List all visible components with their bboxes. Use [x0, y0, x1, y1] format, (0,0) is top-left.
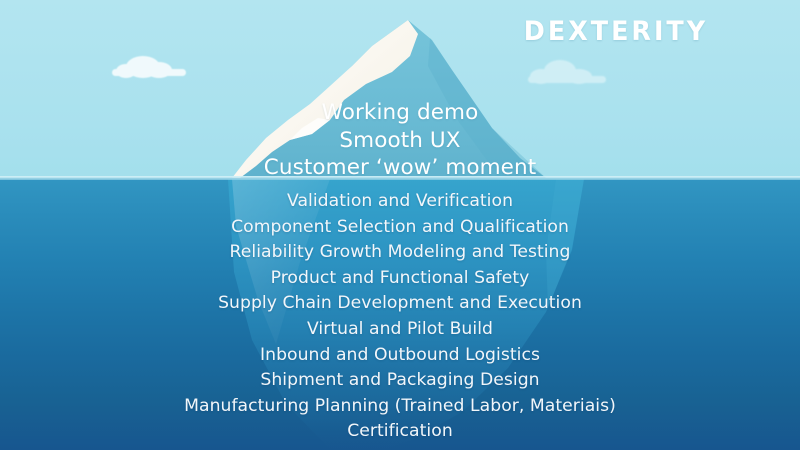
below-water-line: Manufacturing Planning (Trained Labor, M… — [0, 394, 800, 420]
below-water-line: Shipment and Packaging Design — [0, 368, 800, 394]
below-water-text-block: Validation and Verification Component Se… — [0, 189, 800, 445]
above-water-line: Customer ‘wow’ moment — [0, 154, 800, 182]
below-water-line: Certification — [0, 419, 800, 445]
below-water-line: Component Selection and Qualification — [0, 215, 800, 241]
below-water-line: Validation and Verification — [0, 189, 800, 215]
dexterity-logo: DEXTERITY — [524, 18, 708, 45]
above-water-text-block: Working demo Smooth UX Customer ‘wow’ mo… — [0, 99, 800, 182]
below-water-line: Virtual and Pilot Build — [0, 317, 800, 343]
below-water-line: Supply Chain Development and Execution — [0, 291, 800, 317]
below-water-line: Reliability Growth Modeling and Testing — [0, 240, 800, 266]
iceberg-infographic-slide: DEXTERITY Working demo Smooth UX Custome… — [0, 0, 800, 450]
below-water-line: Product and Functional Safety — [0, 266, 800, 292]
above-water-line: Smooth UX — [0, 127, 800, 155]
below-water-line: Inbound and Outbound Logistics — [0, 343, 800, 369]
above-water-line: Working demo — [0, 99, 800, 127]
